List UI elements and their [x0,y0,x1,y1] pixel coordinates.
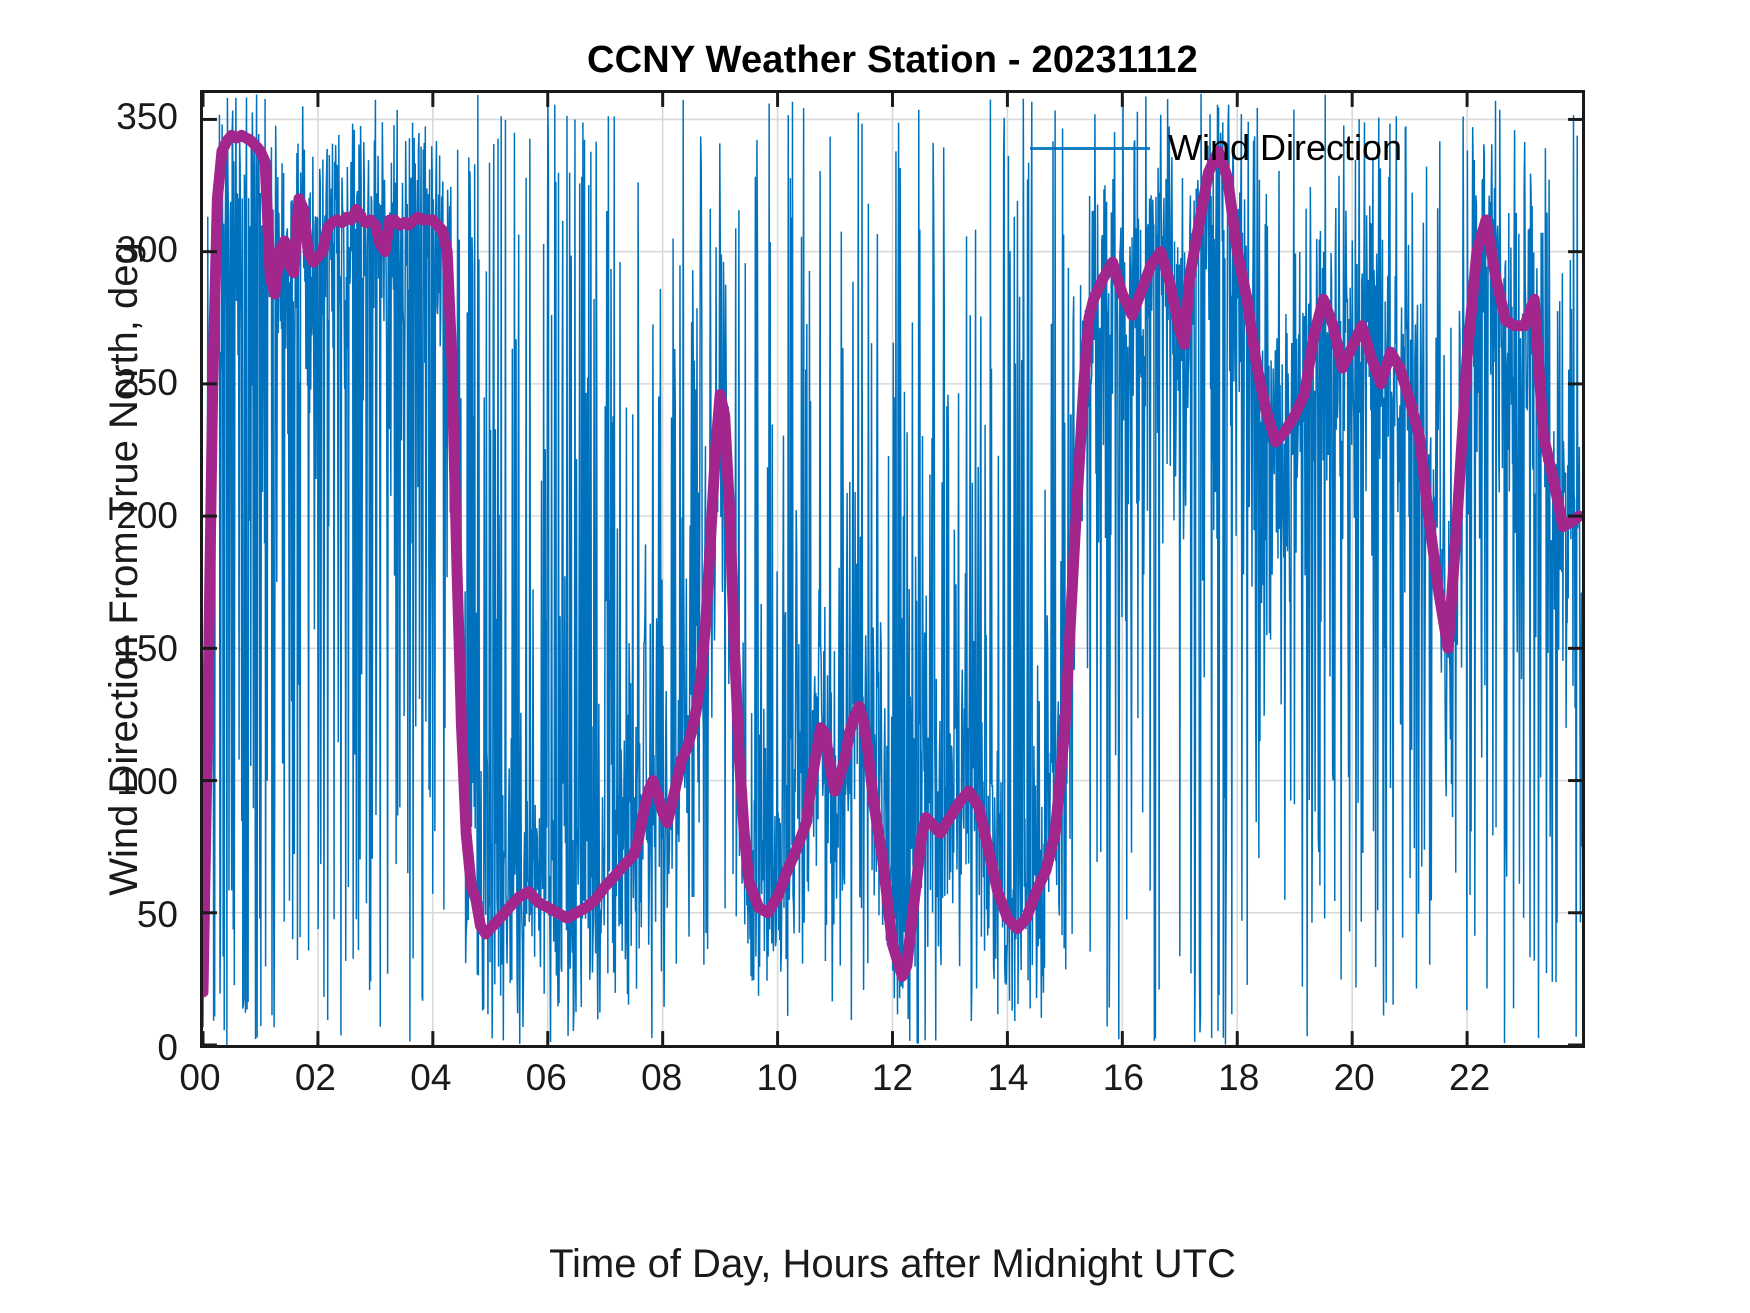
x-axis-title: Time of Day, Hours after Midnight UTC [200,1240,1585,1288]
x-axis-tick-label: 14 [987,1058,1028,1098]
x-axis-tick-label: 04 [410,1058,451,1098]
plot-area [200,90,1585,1048]
x-axis-tick-label: 12 [872,1058,913,1098]
x-axis-tick-label: 02 [295,1058,336,1098]
figure-canvas: CCNY Weather Station - 20231112 05010015… [0,0,1750,1313]
x-axis-tick-label: 00 [179,1058,220,1098]
x-axis-tick-label: 16 [1103,1058,1144,1098]
y-axis-title: Wind Direction From True North, deg [96,90,152,1048]
page-title: CCNY Weather Station - 20231112 [200,38,1585,82]
plot-svg [203,93,1582,1045]
x-axis-tick-label: 20 [1334,1058,1375,1098]
x-axis-tick-label: 08 [641,1058,682,1098]
x-axis-tick-label: 06 [526,1058,567,1098]
x-axis-tick-label: 10 [757,1058,798,1098]
x-axis-tick-label: 22 [1449,1058,1490,1098]
x-axis-tick-label: 18 [1218,1058,1259,1098]
y-axis-tick-label: 0 [157,1029,178,1066]
